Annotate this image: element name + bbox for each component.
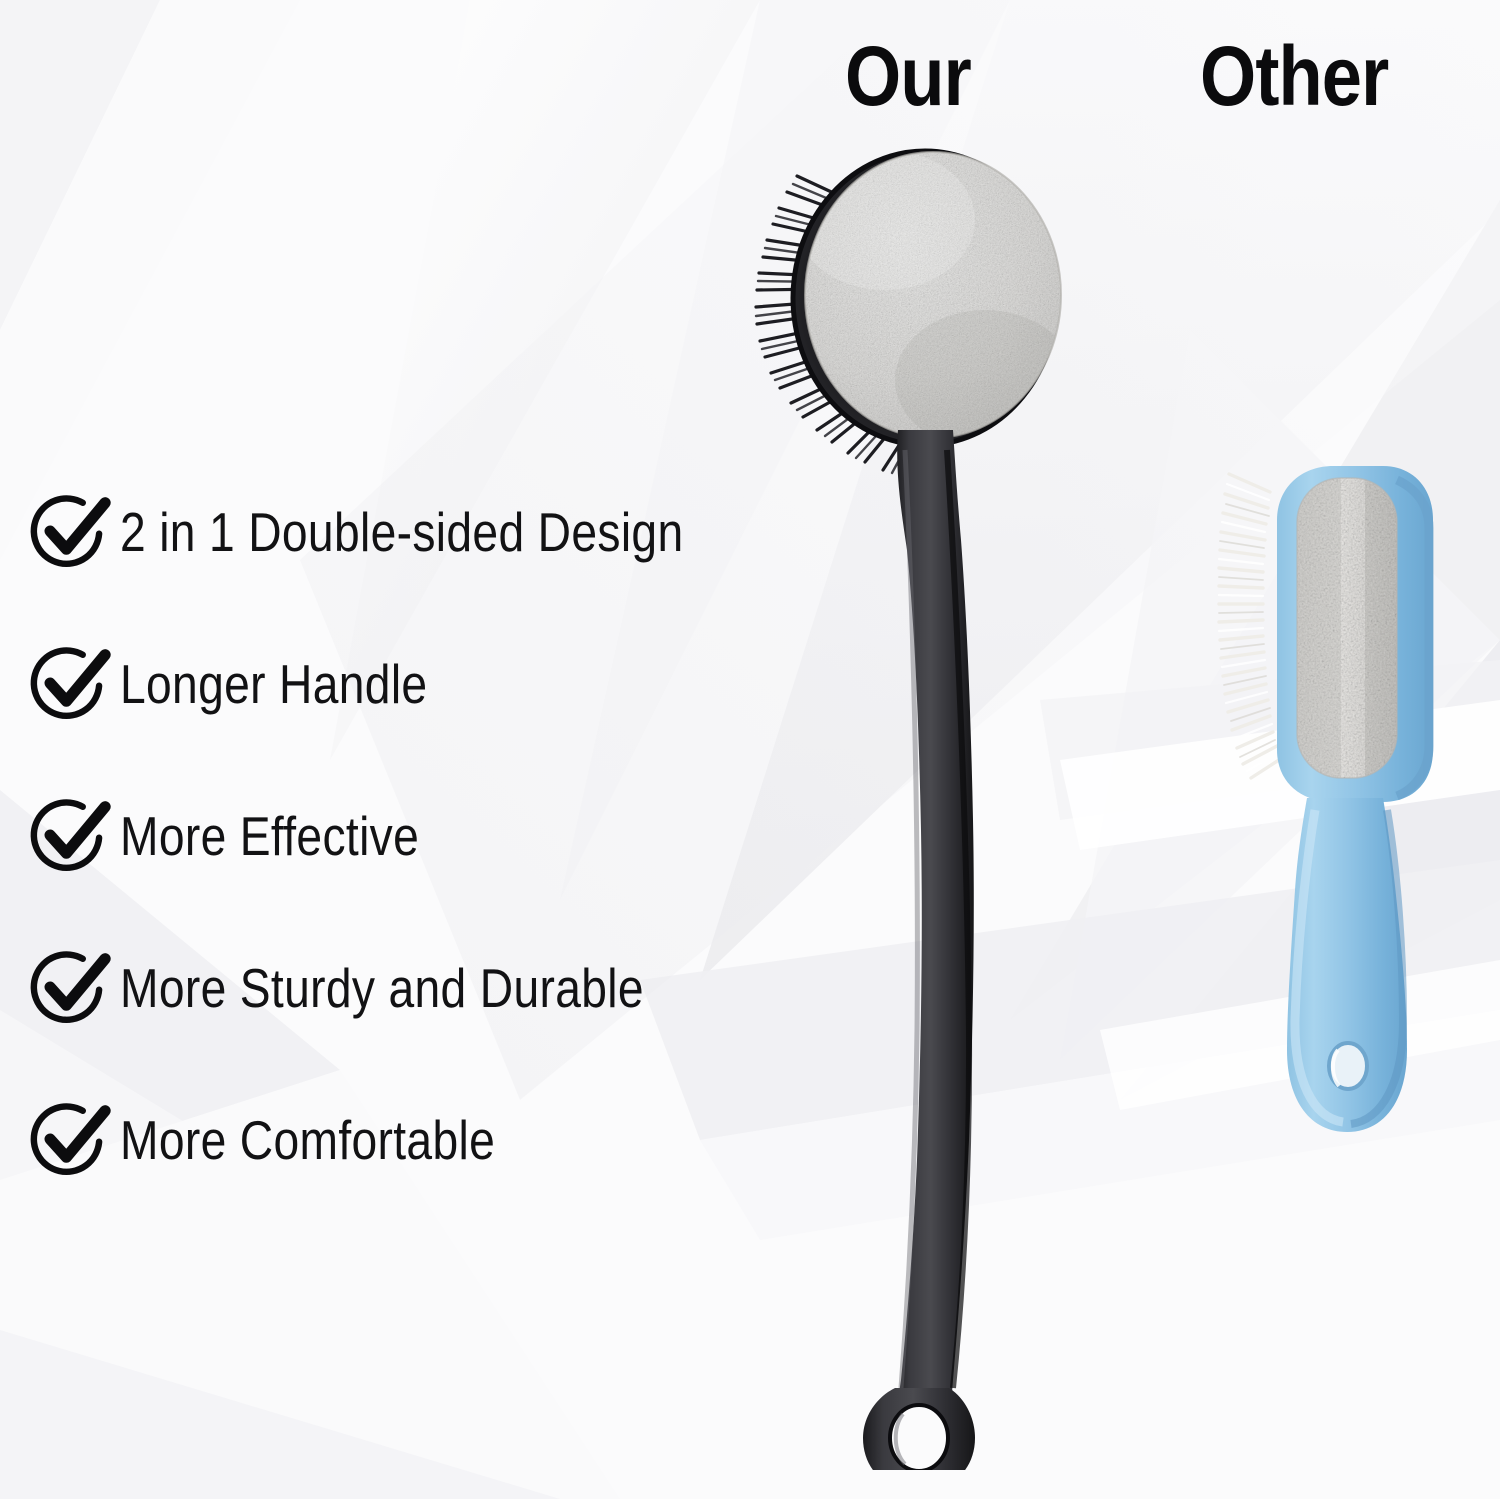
- product-image-other-brush: [1215, 450, 1475, 1160]
- feature-row: More Comfortable: [26, 1064, 846, 1216]
- pumice-stone-pad: [1297, 478, 1399, 778]
- check-circle-icon: [26, 1097, 112, 1183]
- feature-row: More Effective: [26, 760, 846, 912]
- product-comparison-image: Our Other 2 in 1 Double-sided Design Lon…: [0, 0, 1500, 1499]
- bristles-white: [1219, 474, 1282, 778]
- feature-row: More Sturdy and Durable: [26, 912, 846, 1064]
- feature-label: More Comfortable: [120, 1113, 495, 1168]
- feature-label: 2 in 1 Double-sided Design: [120, 505, 683, 560]
- feature-row: 2 in 1 Double-sided Design: [26, 456, 846, 608]
- feature-label: More Effective: [120, 809, 419, 864]
- feature-row: Longer Handle: [26, 608, 846, 760]
- hang-hole-blue: [1329, 1043, 1367, 1089]
- feature-label: More Sturdy and Durable: [120, 961, 644, 1016]
- check-circle-icon: [26, 489, 112, 575]
- handle-hang-hole: [863, 1388, 975, 1470]
- check-circle-icon: [26, 793, 112, 879]
- heading-our: Our: [845, 34, 971, 118]
- check-circle-icon: [26, 641, 112, 727]
- check-circle-icon: [26, 945, 112, 1031]
- feature-list: 2 in 1 Double-sided Design Longer Handle…: [26, 456, 846, 1216]
- heading-other: Other: [1200, 34, 1388, 118]
- feature-label: Longer Handle: [120, 657, 427, 712]
- product-image-our-brush: [735, 130, 1105, 1470]
